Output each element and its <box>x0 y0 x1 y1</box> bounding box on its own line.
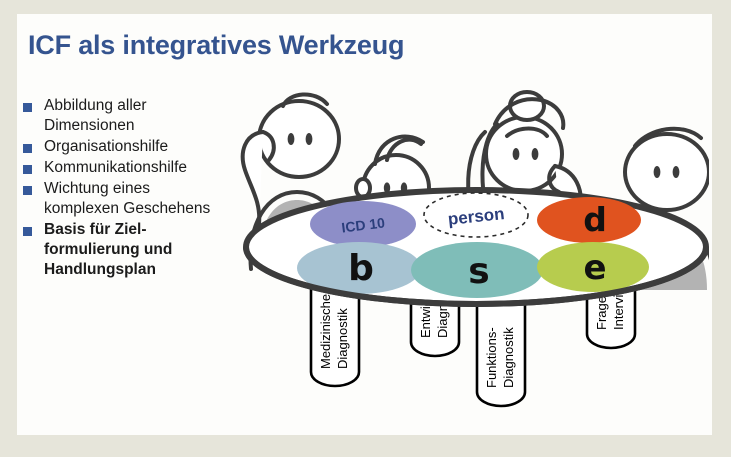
bullet-list: Abbildung aller Dimensionen Organisation… <box>23 96 263 281</box>
cylinder-label-line1: Funktions- <box>484 327 499 388</box>
component-label: d <box>583 200 607 239</box>
bullet-text: Kommunikationshilfe <box>44 158 187 178</box>
component-person[interactable]: person <box>424 193 528 237</box>
list-item: Basis für Ziel- formulierung und Handlun… <box>23 220 263 280</box>
bullet-marker-icon <box>23 227 32 236</box>
bullet-text: Abbildung aller Dimensionen <box>44 96 147 136</box>
component-e[interactable]: e <box>537 242 649 292</box>
bullet-marker-icon <box>23 165 32 174</box>
list-item: Abbildung aller Dimensionen <box>23 96 263 136</box>
component-s[interactable]: s <box>411 242 543 298</box>
bullet-text: Organisationshilfe <box>44 137 168 157</box>
bullet-marker-icon <box>23 144 32 153</box>
component-label: s <box>468 251 489 292</box>
list-item: Organisationshilfe <box>23 137 263 157</box>
component-label: e <box>583 248 606 288</box>
page-title: ICF als integratives Werkzeug <box>28 30 404 61</box>
slide-canvas: ICF als integratives Werkzeug Abbildung … <box>17 14 712 435</box>
bullet-marker-icon <box>23 103 32 112</box>
list-item: Wichtung eines komplexen Geschehens <box>23 179 263 219</box>
list-item: Kommunikationshilfe <box>23 158 263 178</box>
component-label: b <box>348 248 374 289</box>
cylinder-label-line2: Diagnostik <box>501 327 516 388</box>
bullet-text: Basis für Ziel- formulierung und Handlun… <box>44 220 172 280</box>
icf-roundtable-diagram: Medizinische Diagnostik Entwicklungs- Di… <box>239 84 709 434</box>
bullet-text: Wichtung eines komplexen Geschehens <box>44 179 210 219</box>
bullet-marker-icon <box>23 186 32 195</box>
component-icd10[interactable]: ICD 10 <box>310 201 416 247</box>
component-d[interactable]: d <box>537 197 641 243</box>
cylinder-label-line2: Diagnostik <box>335 308 350 369</box>
cylinder-label-line1: Medizinische <box>318 294 333 369</box>
